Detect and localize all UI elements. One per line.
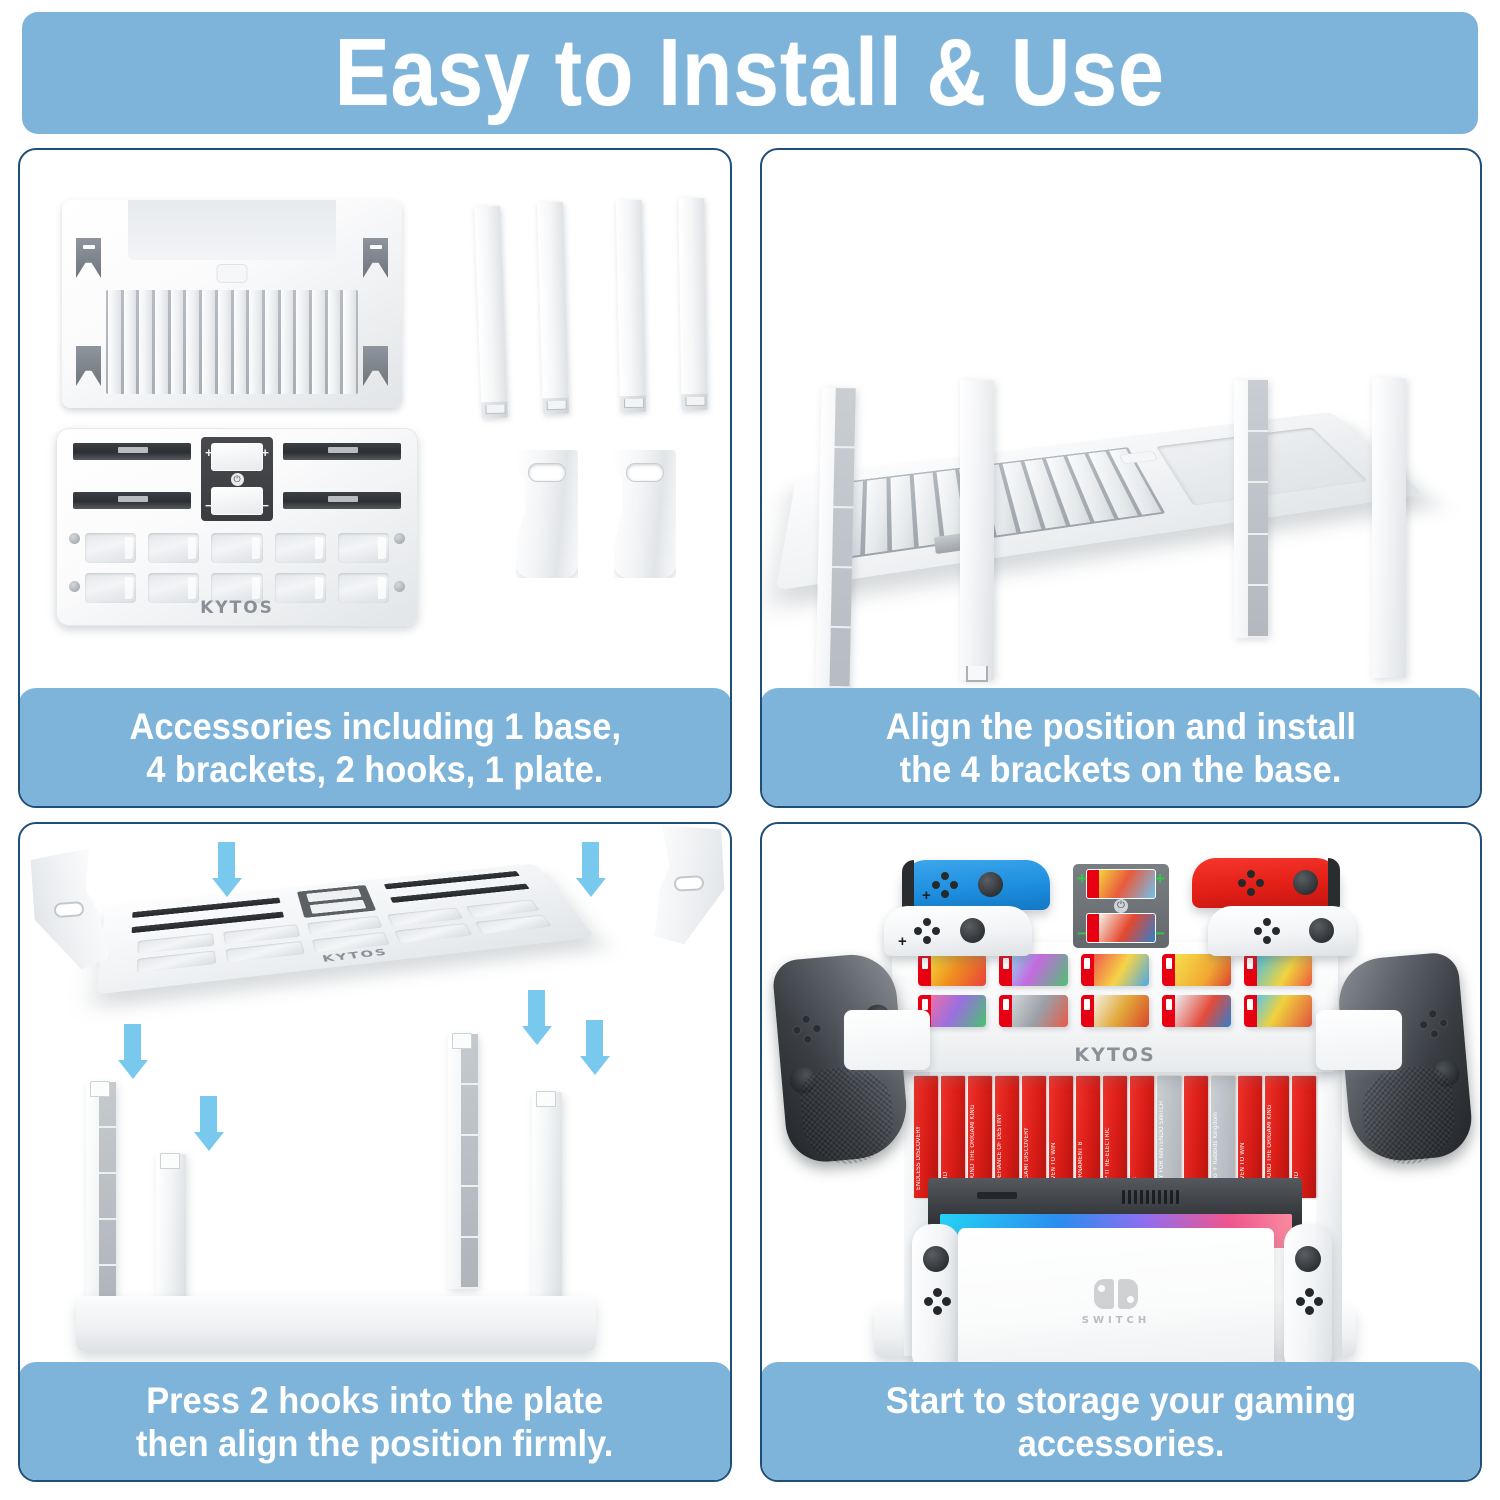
game-card	[1162, 995, 1230, 1027]
card-slot	[148, 533, 199, 563]
console-vents	[1122, 1190, 1179, 1204]
plate-part: + + − − ⏻	[56, 428, 418, 626]
base-card-slots	[106, 290, 358, 394]
dpad-buttons	[924, 1288, 950, 1314]
bracket-post	[1372, 378, 1406, 678]
card-slot	[211, 533, 262, 563]
switch-dock: SWITCH	[958, 1228, 1274, 1362]
plate-screw	[69, 533, 80, 544]
game-card	[1244, 954, 1312, 986]
install-direction-arrow-icon	[124, 1024, 141, 1064]
minus-sign-left: −	[1077, 925, 1087, 942]
center-dock-pad: + + − − ⏻	[1073, 864, 1169, 948]
game-card	[918, 954, 986, 986]
joycon-white-left: +	[884, 906, 1032, 956]
plus-sign: +	[922, 887, 931, 904]
game-card	[1162, 954, 1230, 986]
step-panel-4: ENDLESS DISCOVERY EX 3D AROUND THE ORIGA…	[760, 822, 1482, 1482]
base-card-slots	[834, 447, 1166, 560]
game-card	[1081, 954, 1149, 986]
caption-line: Press 2 hooks into the plate	[146, 1379, 603, 1422]
plus-sign-right: +	[1155, 870, 1165, 887]
minus-sign-right: −	[261, 499, 269, 512]
joycon-blue: +	[902, 860, 1050, 910]
hook-cutout	[53, 901, 84, 918]
cartridge-slot	[977, 1192, 1017, 1199]
caption-line: then align the position firmly.	[136, 1422, 613, 1465]
bracket-post	[86, 1082, 116, 1312]
panel-3-illustration: KYTOS	[20, 824, 730, 1362]
bracket-post	[814, 388, 856, 688]
joycon-red	[1192, 858, 1340, 908]
minus-sign-right: −	[1155, 925, 1165, 942]
plate-screw	[394, 533, 405, 544]
base-tray-bottom	[76, 1296, 596, 1352]
game-card	[999, 954, 1067, 986]
card-slot	[275, 533, 326, 563]
joycon-white-right	[1208, 906, 1356, 956]
caption-line: 4 brackets, 2 hooks, 1 plate.	[146, 748, 603, 791]
caption-line: the 4 brackets on the base.	[900, 748, 1342, 791]
game-card	[999, 995, 1067, 1027]
caption-line: Accessories including 1 base,	[129, 705, 621, 748]
joycon-rail	[73, 443, 191, 460]
caption-line: Align the position and install	[886, 705, 1356, 748]
hook-part	[30, 848, 110, 973]
joycon-rail	[283, 443, 401, 460]
hook-cutout	[528, 463, 566, 482]
install-direction-arrow-icon	[582, 842, 599, 882]
center-card-slot-bottom	[211, 487, 263, 515]
panel-2-caption: Align the position and install the 4 bra…	[760, 688, 1482, 808]
page-title: Easy to Install & Use	[335, 25, 1165, 121]
plate-screw	[394, 581, 405, 592]
panel-1-illustration: + + − − ⏻	[20, 150, 730, 688]
joycon-left-attached	[912, 1224, 960, 1362]
card-slot	[465, 899, 540, 917]
install-direction-arrow-icon	[586, 1020, 603, 1060]
install-direction-arrow-icon	[218, 842, 235, 882]
step-panel-3: KYTOS	[18, 822, 732, 1482]
hook-part	[649, 824, 727, 946]
center-card-slot-top	[211, 443, 263, 471]
joycon-right-attached	[1284, 1224, 1332, 1362]
abxy-buttons	[790, 1014, 823, 1047]
joycon-rail	[283, 492, 401, 509]
base-notch-bottom-right	[363, 346, 388, 386]
game-card	[1244, 995, 1312, 1027]
plus-sign-right: +	[261, 446, 269, 459]
panel-3-caption: Press 2 hooks into the plate then align …	[18, 1362, 732, 1482]
plus-sign: +	[898, 933, 907, 950]
base-lip	[128, 200, 336, 260]
minus-sign-left: −	[205, 499, 213, 512]
hook-part	[516, 450, 578, 578]
card-slot	[85, 533, 136, 563]
plus-sign-left: +	[1077, 870, 1087, 887]
hook-cutout	[626, 463, 664, 482]
game-card	[1081, 995, 1149, 1027]
step-panel-1: + + − − ⏻	[18, 148, 732, 808]
base-notch-bottom-left	[76, 346, 101, 386]
hook-cutout	[674, 875, 705, 892]
analog-stick	[1295, 1246, 1321, 1272]
bracket-post	[474, 206, 508, 419]
base-body	[776, 412, 1424, 590]
brand-logo: KYTOS	[57, 598, 417, 618]
hook-part	[614, 450, 676, 578]
dock-game-card	[1086, 913, 1156, 943]
card-slot	[338, 533, 389, 563]
base-perspective-assembly	[796, 378, 1416, 616]
bracket-post	[960, 380, 994, 680]
brand-logo: KYTOS	[892, 1044, 1338, 1066]
caption-line: Start to storage your gaming	[886, 1379, 1356, 1422]
power-icon: ⏻	[231, 473, 244, 486]
hook-arm-right	[1316, 1010, 1402, 1070]
bracket-post	[532, 1092, 562, 1314]
base-notch-top-right	[363, 238, 388, 278]
plate-center-dock-pad	[297, 885, 376, 918]
header-banner: Easy to Install & Use	[22, 12, 1478, 134]
install-direction-arrow-icon	[528, 990, 545, 1030]
bracket-foot-clip	[966, 666, 988, 682]
bracket-post	[537, 202, 569, 415]
abxy-buttons	[1418, 1008, 1451, 1041]
abxy-buttons	[1296, 1288, 1322, 1314]
base-center-tab	[217, 264, 248, 283]
game-card-grid	[918, 954, 1312, 1027]
power-icon: ⏻	[1114, 899, 1128, 913]
nintendo-switch-logo-icon	[1094, 1279, 1138, 1309]
bracket-post	[678, 198, 707, 410]
install-direction-arrow-icon	[200, 1096, 217, 1136]
plate-perspective: KYTOS	[97, 863, 596, 994]
plate-center-dock-pad: + + − − ⏻	[201, 437, 273, 521]
bracket-post	[1234, 380, 1268, 638]
dock-label: SWITCH	[1082, 1315, 1150, 1326]
joycon-rail	[73, 492, 191, 509]
hook-arm-left	[844, 1010, 930, 1070]
panel-4-illustration: ENDLESS DISCOVERY EX 3D AROUND THE ORIGA…	[762, 824, 1480, 1362]
base-tray-part	[62, 200, 402, 408]
panel-4-caption: Start to storage your gaming accessories…	[760, 1362, 1482, 1482]
panel-1-caption: Accessories including 1 base, 4 brackets…	[18, 688, 732, 808]
caption-line: accessories.	[1018, 1422, 1225, 1465]
dock-game-card	[1086, 869, 1156, 899]
panel-2-illustration	[762, 150, 1480, 688]
bracket-post	[448, 1034, 478, 1289]
base-notch-top-left	[76, 238, 101, 278]
plate-assembled: KYTOS	[892, 942, 1338, 1072]
plate-screw	[69, 581, 80, 592]
bracket-post	[616, 200, 646, 412]
infographic-page: Easy to Install & Use	[0, 0, 1500, 1500]
step-panel-2: Align the position and install the 4 bra…	[760, 148, 1482, 808]
analog-stick	[923, 1246, 949, 1272]
plus-sign-left: +	[205, 446, 213, 459]
plate-card-slot-grid	[85, 533, 389, 603]
